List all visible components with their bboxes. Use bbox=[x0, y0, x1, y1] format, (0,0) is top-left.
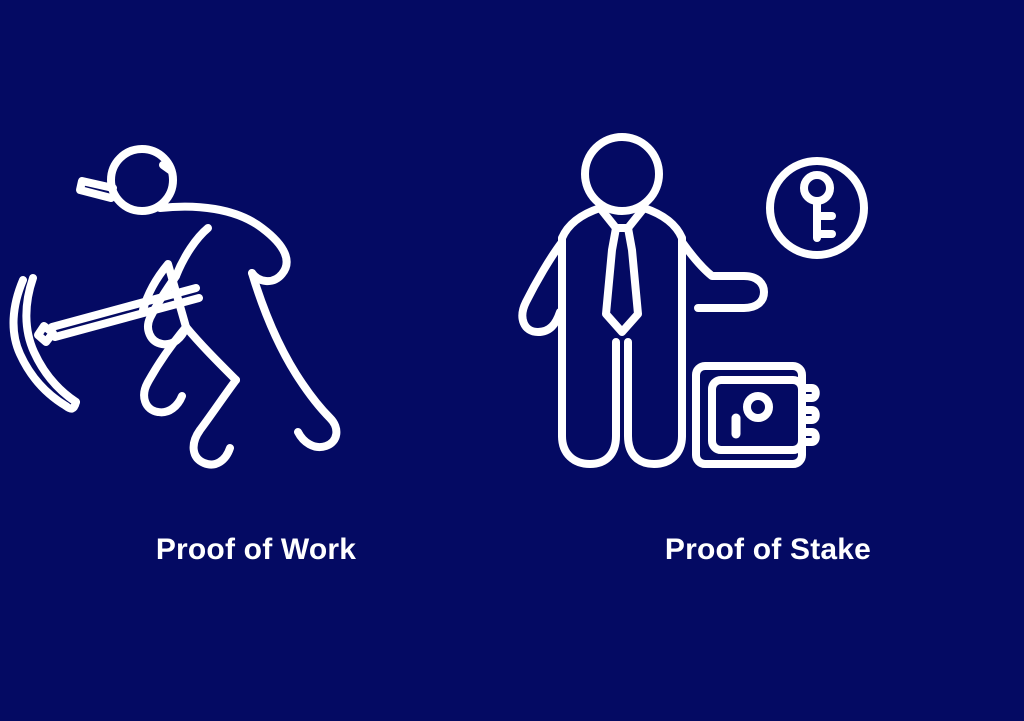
miner-hip-icon bbox=[186, 327, 236, 380]
miner-with-pickaxe-icon bbox=[0, 130, 512, 475]
panel-proof-of-work: Proof of Work bbox=[0, 0, 512, 721]
suit-left-side-icon bbox=[562, 208, 600, 326]
miner-helmet-tick-icon bbox=[163, 165, 170, 170]
miner-front-leg-icon bbox=[194, 380, 236, 465]
miner-head-icon bbox=[111, 149, 173, 211]
left-leg-icon bbox=[562, 342, 616, 464]
necktie-icon bbox=[606, 228, 638, 332]
caption-proof-of-work: Proof of Work bbox=[0, 530, 512, 570]
panel-proof-of-stake: Proof of Stake bbox=[512, 0, 1024, 721]
miner-rear-leg-icon bbox=[252, 273, 336, 447]
suit-right-side-icon bbox=[644, 208, 682, 326]
safe-dial-icon bbox=[747, 396, 769, 418]
left-arm-icon bbox=[522, 242, 562, 332]
right-leg-icon bbox=[628, 342, 682, 464]
pickaxe-collar-icon bbox=[38, 326, 53, 342]
businessman-head-icon bbox=[585, 137, 659, 211]
right-arm-icon bbox=[682, 242, 764, 308]
miner-helmet-lamp-icon bbox=[80, 181, 113, 198]
caption-proof-of-stake: Proof of Stake bbox=[512, 530, 1024, 570]
businessman-with-key-and-safe-icon bbox=[512, 130, 1024, 475]
illustration-canvas: Proof of Work bbox=[0, 0, 1024, 721]
